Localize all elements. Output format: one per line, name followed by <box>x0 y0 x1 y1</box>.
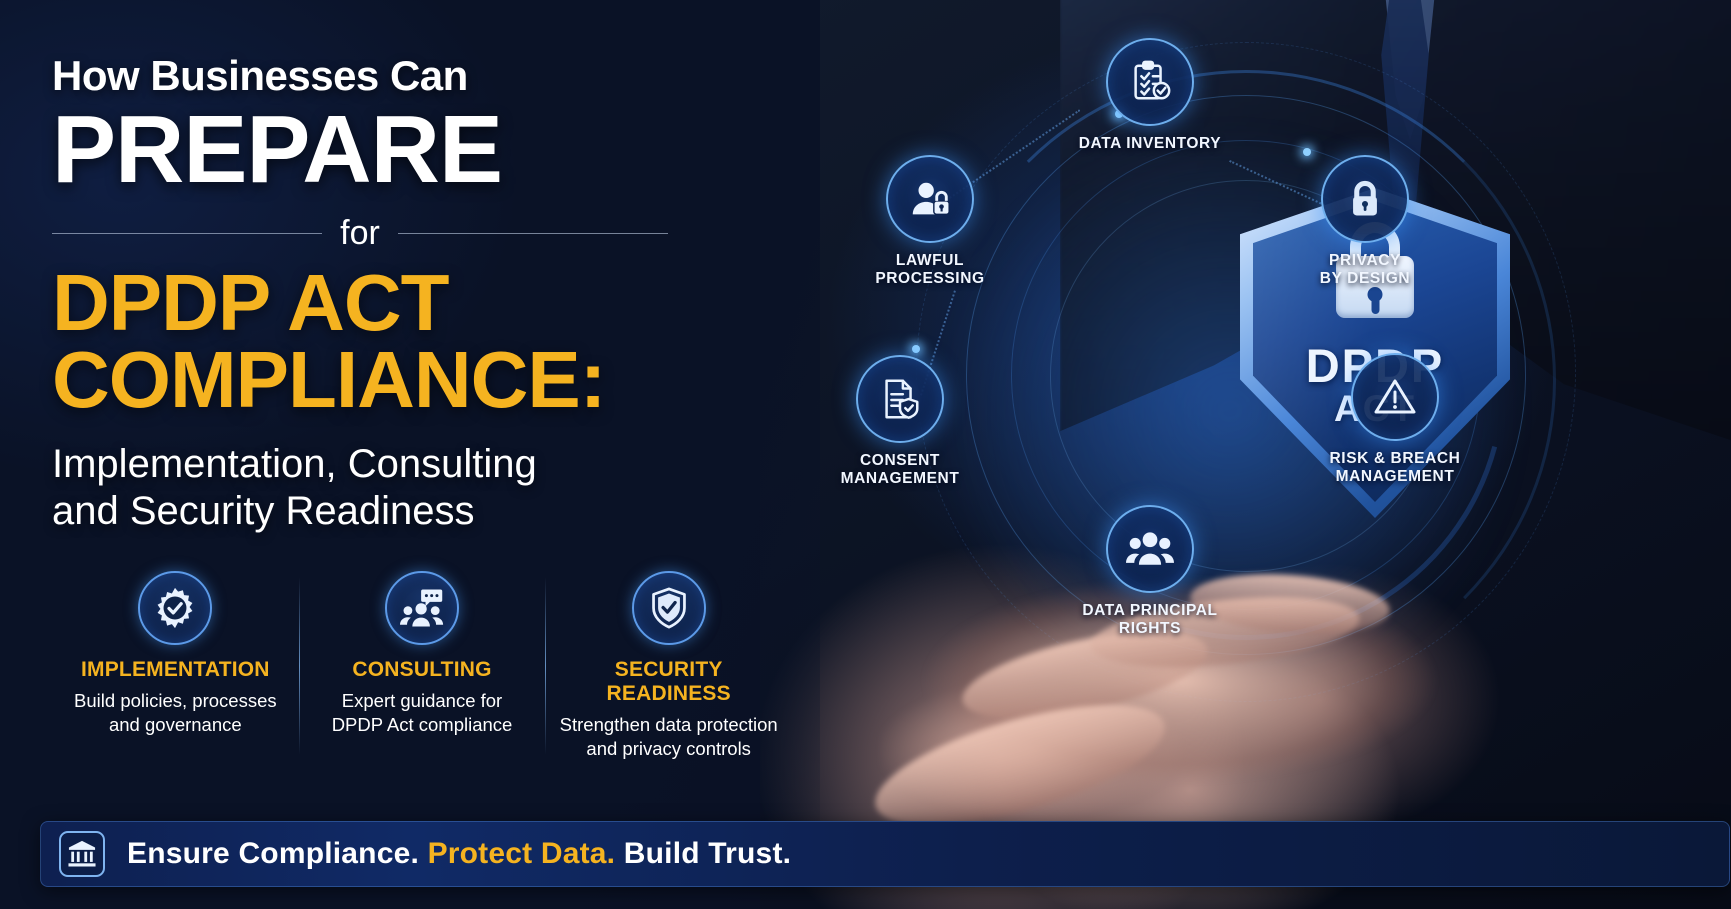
node-data-principal-rights[interactable]: DATA PRINCIPAL RIGHTS <box>1060 505 1240 639</box>
footer-tagline: Ensure Compliance. Protect Data. Build T… <box>127 837 791 871</box>
page-subtitle: Implementation, Consulting and Security … <box>52 441 820 535</box>
node-label: PRIVACY BY DESIGN <box>1275 252 1455 289</box>
node-label: DATA PRINCIPAL RIGHTS <box>1060 602 1240 639</box>
act-title-line2: COMPLIANCE: <box>52 342 820 419</box>
node-label: DATA INVENTORY <box>1060 135 1240 153</box>
feature-desc: Build policies, processes and governance <box>60 689 291 736</box>
spark-left <box>912 345 920 353</box>
footer-text-part2: Build Trust. <box>624 837 791 870</box>
feature-implementation[interactable]: IMPLEMENTATION Build policies, processes… <box>52 571 299 760</box>
page-title: PREPARE <box>52 106 820 194</box>
node-privacy-by-design[interactable]: PRIVACY BY DESIGN <box>1275 155 1455 289</box>
feature-title: CONSULTING <box>307 658 538 682</box>
for-label: for <box>340 214 380 253</box>
act-title: DPDP ACT COMPLIANCE: <box>52 265 820 419</box>
footer-text-highlight: Protect Data. <box>428 837 616 870</box>
act-title-line1: DPDP ACT <box>52 265 820 342</box>
feature-desc: Expert guidance for DPDP Act compliance <box>307 689 538 736</box>
document-shield-icon <box>856 355 944 443</box>
node-data-inventory[interactable]: DATA INVENTORY <box>1060 38 1240 153</box>
warning-triangle-icon <box>1351 353 1439 441</box>
infographic-poster: DPDP ACT DATA INVENTORY <box>0 0 1731 909</box>
feature-columns: IMPLEMENTATION Build policies, processes… <box>52 571 792 760</box>
institution-icon <box>59 831 105 877</box>
node-consent-management[interactable]: CONSENT MANAGEMENT <box>810 355 990 489</box>
node-label: LAWFUL PROCESSING <box>840 252 1020 289</box>
kicker-text: How Businesses Can <box>52 52 820 100</box>
feature-security-readiness[interactable]: SECURITY READINESS Strengthen data prote… <box>545 571 792 760</box>
people-group-icon <box>1106 505 1194 593</box>
clipboard-check-icon <box>1106 38 1194 126</box>
node-label: RISK & BREACH MANAGEMENT <box>1305 450 1485 487</box>
team-chat-icon <box>385 571 459 645</box>
divider-right <box>398 233 668 234</box>
footer-text-part1: Ensure Compliance. <box>127 837 419 870</box>
node-label: CONSENT MANAGEMENT <box>810 452 990 489</box>
user-lock-icon <box>886 155 974 243</box>
feature-title: SECURITY READINESS <box>553 658 784 706</box>
lock-icon <box>1321 155 1409 243</box>
for-divider-row: for <box>52 214 668 253</box>
feature-consulting[interactable]: CONSULTING Expert guidance for DPDP Act … <box>299 571 546 760</box>
shield-check-icon <box>632 571 706 645</box>
subtitle-line1: Implementation, Consulting <box>52 441 820 488</box>
subtitle-line2: and Security Readiness <box>52 488 820 535</box>
divider-left <box>52 233 322 234</box>
feature-title: IMPLEMENTATION <box>60 658 291 682</box>
feature-desc: Strengthen data protection and privacy c… <box>553 713 784 760</box>
gear-check-icon <box>138 571 212 645</box>
node-lawful-processing[interactable]: LAWFUL PROCESSING <box>840 155 1020 289</box>
node-risk-breach-management[interactable]: RISK & BREACH MANAGEMENT <box>1305 353 1485 487</box>
photo-backdrop: DPDP ACT DATA INVENTORY <box>760 0 1731 909</box>
left-content-panel: How Businesses Can PREPARE for DPDP ACT … <box>0 0 820 909</box>
footer-bar: Ensure Compliance. Protect Data. Build T… <box>40 821 1730 887</box>
